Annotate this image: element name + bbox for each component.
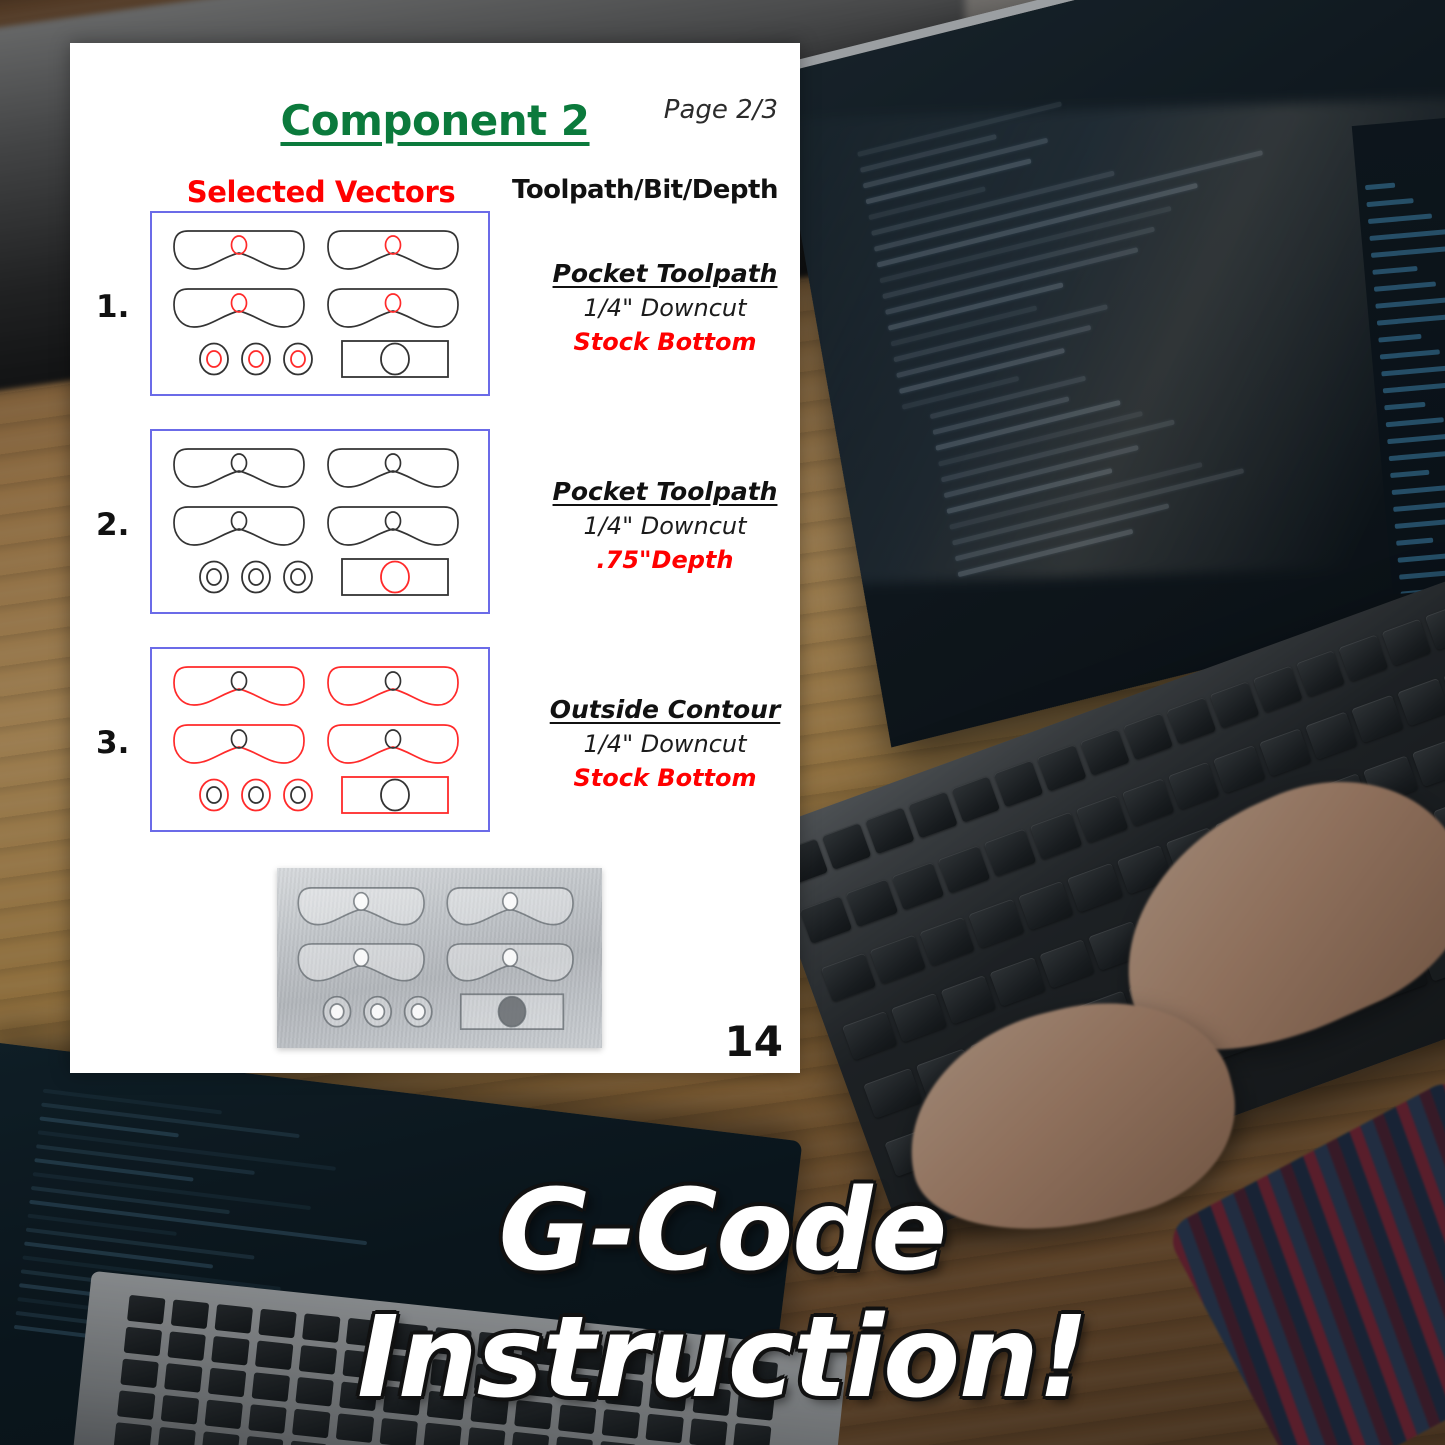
column-header-selected-vectors: Selected Vectors (176, 175, 466, 209)
vector-diagram (152, 649, 488, 830)
column-header-toolpath-bit-depth: Toolpath/Bit/Depth (500, 175, 790, 205)
toolpath-spec: Pocket Toolpath 1/4" Downcut Stock Botto… (525, 259, 800, 356)
cut-depth: Stock Bottom (525, 328, 800, 356)
vector-preview-box (150, 429, 490, 614)
cut-depth: .75"Depth (525, 546, 800, 574)
vector-preview-box (150, 211, 490, 396)
headline-line-1: G-Code (0, 1168, 1445, 1296)
step-number: 3. (96, 725, 129, 761)
toolpath-name: Pocket Toolpath (525, 477, 800, 506)
sheet-page-number: 14 (725, 1017, 783, 1066)
vector-diagram (152, 213, 488, 394)
instruction-sheet: Component 2 Page 2/3 Selected Vectors To… (70, 43, 800, 1073)
bit-size: 1/4" Downcut (525, 512, 800, 540)
step-number: 2. (96, 507, 129, 543)
vector-diagram (152, 431, 488, 612)
page-indicator: Page 2/3 (664, 95, 778, 125)
toolpath-name: Outside Contour (525, 695, 800, 724)
vector-preview-box (150, 647, 490, 832)
headline-line-2: Instruction! (0, 1295, 1445, 1423)
machined-plate-render (277, 868, 602, 1048)
bit-size: 1/4" Downcut (525, 294, 800, 322)
render-pockets (277, 868, 602, 1048)
toolpath-name: Pocket Toolpath (525, 259, 800, 288)
toolpath-spec: Pocket Toolpath 1/4" Downcut .75"Depth (525, 477, 800, 574)
promo-headline: G-Code Instruction! (0, 1168, 1445, 1423)
step-number: 1. (96, 289, 129, 325)
toolpath-spec: Outside Contour 1/4" Downcut Stock Botto… (525, 695, 800, 792)
bit-size: 1/4" Downcut (525, 730, 800, 758)
cut-depth: Stock Bottom (525, 764, 800, 792)
